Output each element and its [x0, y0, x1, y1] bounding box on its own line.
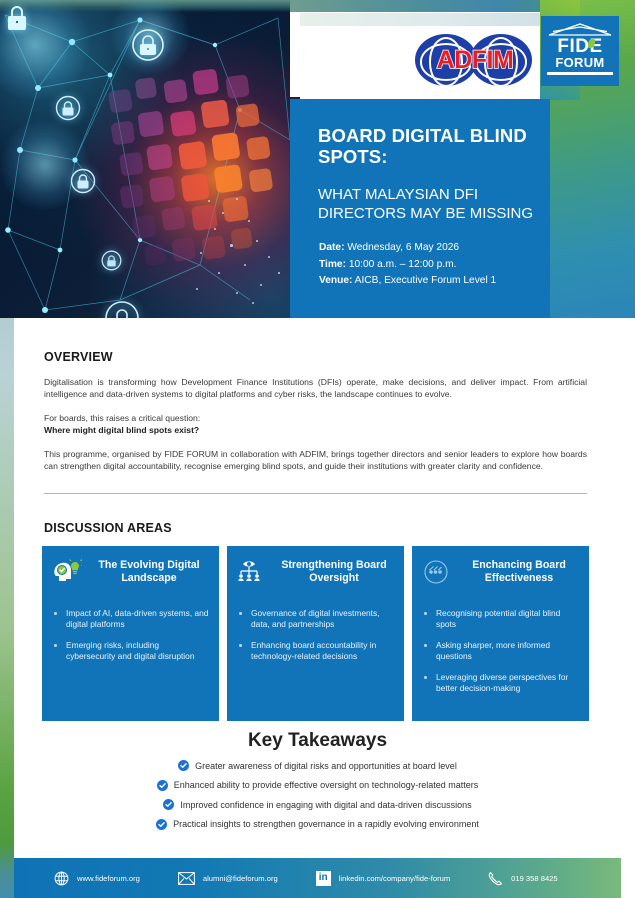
overview-paragraph-3: This programme, organised by FIDE FORUM …	[44, 449, 587, 472]
poster-page: ADFIM FIDE FORUM BOARD DIGITAL BLIND SPO…	[0, 0, 635, 898]
card-header: Strengthening Board Oversight	[237, 558, 394, 592]
overview-question: Where might digital blind spots exist?	[44, 425, 587, 437]
detail-row: Date: Wednesday, 6 May 2026	[319, 240, 544, 257]
key-takeaways-list: Greater awareness of digital risks and o…	[14, 760, 621, 838]
detail-row: Venue: AICB, Executive Forum Level 1	[319, 273, 544, 290]
detail-value: Wednesday, 6 May 2026	[344, 242, 459, 253]
hero-glow	[0, 120, 90, 210]
card-bullet-list: Recognising potential digital blind spot…	[436, 608, 579, 694]
fide-base-line	[547, 72, 613, 75]
takeaway-item: Greater awareness of digital risks and o…	[14, 760, 621, 771]
globe-icon	[54, 871, 69, 886]
takeaway-text: Enhanced ability to provide effective ov…	[174, 780, 479, 790]
padlock-icon	[70, 168, 96, 194]
detail-value: 10:00 a.m. – 12:00 p.m.	[346, 259, 456, 270]
footer-linkedin[interactable]: in linkedin.com/company/fide-forum	[316, 871, 450, 886]
card-bullet-list: Impact of AI, data-driven systems, and d…	[66, 608, 209, 663]
check-circle-icon	[157, 780, 168, 791]
discussion-card: The Evolving Digital Landscape Impact of…	[42, 546, 219, 721]
key-takeaways-heading: Key Takeaways	[14, 730, 621, 752]
discussion-areas-heading: DISCUSSION AREAS	[44, 521, 172, 535]
overview-paragraph-2: For boards, this raises a critical quest…	[44, 413, 587, 425]
page-title: BOARD DIGITAL BLIND SPOTS:	[318, 125, 540, 167]
fide-text: FIDE	[557, 36, 602, 57]
footer-website[interactable]: www.fideforum.org	[54, 871, 140, 886]
footer-website-text: www.fideforum.org	[77, 874, 140, 883]
fide-logo-text: FIDE	[547, 38, 613, 56]
fide-forum-text: FORUM	[547, 56, 613, 70]
padlock-icon	[55, 95, 81, 121]
detail-label: Date:	[319, 242, 344, 253]
card-header: The Evolving Digital Landscape	[52, 558, 209, 592]
fide-roof-icon	[547, 22, 613, 36]
takeaway-text: Greater awareness of digital risks and o…	[195, 761, 457, 771]
check-circle-icon	[163, 799, 174, 810]
overview-paragraph-1: Digitalisation is transforming how Devel…	[44, 377, 587, 400]
card-bullet-list: Governance of digital investments, data,…	[251, 608, 394, 663]
eye-org-chart-icon	[237, 558, 267, 585]
adfim-logo-text: ADFIM	[415, 46, 535, 75]
header-soft-gradient	[300, 13, 550, 26]
gauge-icon	[422, 558, 452, 585]
head-lightbulb-icon	[52, 558, 82, 583]
takeaway-item: Enhanced ability to provide effective ov…	[14, 780, 621, 791]
detail-value: AICB, Executive Forum Level 1	[352, 275, 496, 286]
discussion-card: Strengthening Board Oversight Governance…	[227, 546, 404, 721]
detail-label: Time:	[319, 259, 346, 270]
card-bullet: Leveraging diverse perspectives for bett…	[436, 672, 579, 695]
page-subtitle: WHAT MALAYSIAN DFI DIRECTORS MAY BE MISS…	[318, 185, 544, 223]
padlock-icon	[4, 3, 30, 33]
card-header: Enchancing Board Effectiveness	[422, 558, 579, 592]
card-title: Enchancing Board Effectiveness	[459, 558, 579, 584]
card-title: The Evolving Digital Landscape	[89, 558, 209, 584]
footer-email-text: alumni@fideforum.org	[203, 874, 278, 883]
card-bullet: Asking sharper, more informed questions	[436, 640, 579, 663]
takeaway-text: Practical insights to strengthen governa…	[173, 819, 479, 829]
detail-label: Venue:	[319, 275, 352, 286]
event-details: Date: Wednesday, 6 May 2026 Time: 10:00 …	[319, 240, 544, 290]
card-bullet: Impact of AI, data-driven systems, and d…	[66, 608, 209, 631]
footer-bar: www.fideforum.org alumni@fideforum.org i…	[14, 858, 621, 898]
footer-linkedin-text: linkedin.com/company/fide-forum	[339, 874, 450, 883]
section-divider	[44, 493, 587, 494]
phone-icon	[488, 871, 503, 886]
padlock-icon	[104, 300, 140, 318]
takeaway-text: Improved confidence in engaging with dig…	[180, 800, 471, 810]
detail-row: Time: 10:00 a.m. – 12:00 p.m.	[319, 257, 544, 274]
body-content: OVERVIEW Digitalisation is transforming …	[14, 318, 621, 843]
linkedin-icon: in	[316, 871, 331, 886]
footer-phone[interactable]: 019 358 8425	[488, 871, 557, 886]
padlock-icon	[101, 250, 122, 271]
footer-email[interactable]: alumni@fideforum.org	[178, 872, 278, 885]
card-title: Strengthening Board Oversight	[274, 558, 394, 584]
padlock-icon	[131, 28, 165, 62]
check-circle-icon	[156, 819, 167, 830]
card-bullet: Recognising potential digital blind spot…	[436, 608, 579, 631]
fide-forum-logo: FIDE FORUM	[541, 16, 619, 86]
title-block: BOARD DIGITAL BLIND SPOTS: WHAT MALAYSIA…	[290, 99, 550, 318]
app-icon-cluster	[105, 58, 300, 312]
card-bullet: Enhancing board accountability in techno…	[251, 640, 394, 663]
takeaway-item: Improved confidence in engaging with dig…	[14, 799, 621, 810]
adfim-logo: ADFIM	[415, 28, 535, 92]
card-bullet: Emerging risks, including cybersecurity …	[66, 640, 209, 663]
discussion-card: Enchancing Board Effectiveness Recognisi…	[412, 546, 589, 721]
hero-image	[0, 0, 300, 318]
check-circle-icon	[178, 760, 189, 771]
card-bullet: Governance of digital investments, data,…	[251, 608, 394, 631]
envelope-icon	[178, 872, 195, 885]
takeaway-item: Practical insights to strengthen governa…	[14, 819, 621, 830]
footer-phone-text: 019 358 8425	[511, 874, 557, 883]
overview-heading: OVERVIEW	[44, 350, 113, 364]
discussion-cards: The Evolving Digital Landscape Impact of…	[42, 546, 589, 721]
